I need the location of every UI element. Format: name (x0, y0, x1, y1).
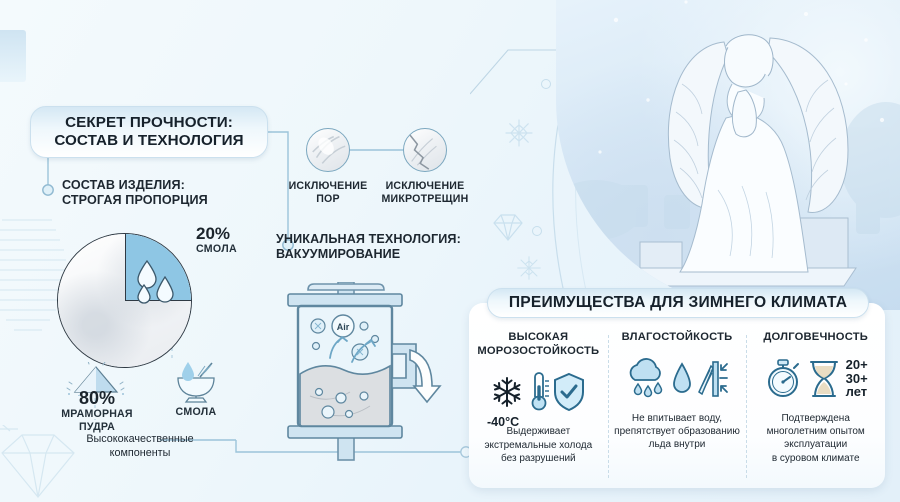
years-line-2: 30+ (846, 372, 868, 386)
advantage-icons: 20+ 30+ лет (752, 351, 879, 407)
resin-percentage: 20% (196, 224, 230, 244)
chamber-top-flange (288, 294, 402, 306)
technology-heading-line-1: УНИКАЛЬНАЯ ТЕХНОЛОГИЯ: (276, 232, 461, 247)
crack-label-line-1: ИСКЛЮЧЕНИЕ (373, 180, 477, 193)
powder-percentage: 80% (47, 388, 147, 409)
pore-label-line-2: ПОР (276, 193, 380, 206)
vacuum-chamber-illustration: Air (286, 282, 451, 462)
microcrack-exclusion-label: ИСКЛЮЧЕНИЕ МИКРОТРЕЩИН (373, 180, 477, 206)
years-value: 20+ 30+ лет (846, 358, 868, 399)
advantages-card: ВЫСОКАЯ МОРОЗОСТОЙКОСТЬ (469, 303, 885, 488)
chamber-bottom-flange (288, 426, 402, 438)
title-line-2: СОСТАВ И ТЕХНОЛОГИЯ (54, 132, 243, 150)
technology-heading: УНИКАЛЬНАЯ ТЕХНОЛОГИЯ: ВАКУУМИРОВАНИЕ (276, 232, 461, 262)
water-drop-icon (672, 362, 692, 396)
hourglass-icon (805, 358, 843, 400)
composition-pie-chart (57, 233, 192, 368)
thermometer-icon (527, 369, 549, 415)
page-title: СЕКРЕТ ПРОЧНОСТИ: СОСТАВ И ТЕХНОЛОГИЯ (30, 106, 268, 158)
pore-exclusion-icon (306, 128, 350, 172)
advantage-icons (614, 351, 741, 407)
rain-cloud-icon (625, 358, 669, 400)
advantages-columns: ВЫСОКАЯ МОРОЗОСТОЙКОСТЬ (469, 331, 885, 488)
advantage-moisture-resistance: ВЛАГОСТОЙКОСТЬ (608, 331, 747, 488)
resin-percentage-label: СМОЛА (196, 243, 237, 255)
snowflake-icon (490, 375, 524, 409)
advantage-description: Выдерживает экстремальные холода без раз… (475, 425, 602, 465)
microcrack-exclusion-icon (403, 128, 447, 172)
advantage-title: ВЛАГОСТОЙКОСТЬ (614, 331, 741, 345)
resin-icon-label: СМОЛА (148, 406, 244, 418)
resin-mortar-icon (172, 358, 220, 404)
advantage-description: Подтверждена многолетним опытом эксплуат… (752, 412, 879, 465)
advantage-durability: ДОЛГОВЕЧНОСТЬ (746, 331, 885, 488)
powder-label: МРАМОРНАЯ ПУДРА (37, 408, 157, 434)
advantage-title: ВЫСОКАЯ МОРОЗОСТОЙКОСТЬ (475, 331, 602, 358)
pore-exclusion-label: ИСКЛЮЧЕНИЕ ПОР (276, 180, 380, 206)
pore-label-line-1: ИСКЛЮЧЕНИЕ (276, 180, 380, 193)
advantages-banner: ПРЕИМУЩЕСТВА ДЛЯ ЗИМНЕГО КЛИМАТА (487, 288, 869, 318)
title-line-1: СЕКРЕТ ПРОЧНОСТИ: (54, 114, 243, 132)
quality-note: Высококачественные компоненты (52, 432, 228, 460)
advantage-icons (475, 364, 602, 420)
years-line-1: 20+ (846, 358, 868, 372)
years-line-3: лет (846, 385, 868, 399)
composition-heading-line-2: СТРОГАЯ ПРОПОРЦИЯ (62, 193, 208, 208)
infographic-root: СЕКРЕТ ПРОЧНОСТИ: СОСТАВ И ТЕХНОЛОГИЯ СО… (0, 0, 900, 502)
water-repel-icon (695, 358, 729, 400)
shield-check-icon (552, 372, 586, 412)
quality-note-line-1: Высококачественные (52, 432, 228, 446)
composition-heading: СОСТАВ ИЗДЕЛИЯ: СТРОГАЯ ПРОПОРЦИЯ (62, 178, 208, 208)
powder-label-line-1: МРАМОРНАЯ (37, 408, 157, 421)
water-drop-icon (135, 257, 177, 305)
quality-note-line-2: компоненты (52, 446, 228, 460)
crack-label-line-2: МИКРОТРЕЩИН (373, 193, 477, 206)
advantage-title: ДОЛГОВЕЧНОСТЬ (752, 331, 879, 345)
technology-heading-line-2: ВАКУУМИРОВАНИЕ (276, 247, 461, 262)
advantage-frost-resistance: ВЫСОКАЯ МОРОЗОСТОЙКОСТЬ (469, 331, 608, 488)
stopwatch-icon (764, 358, 802, 400)
advantage-description: Не впитывает воду, препятствует образова… (614, 412, 741, 452)
air-label: Air (337, 322, 350, 332)
composition-heading-line-1: СОСТАВ ИЗДЕЛИЯ: (62, 178, 208, 193)
temperature-value: -40°C (487, 415, 519, 429)
